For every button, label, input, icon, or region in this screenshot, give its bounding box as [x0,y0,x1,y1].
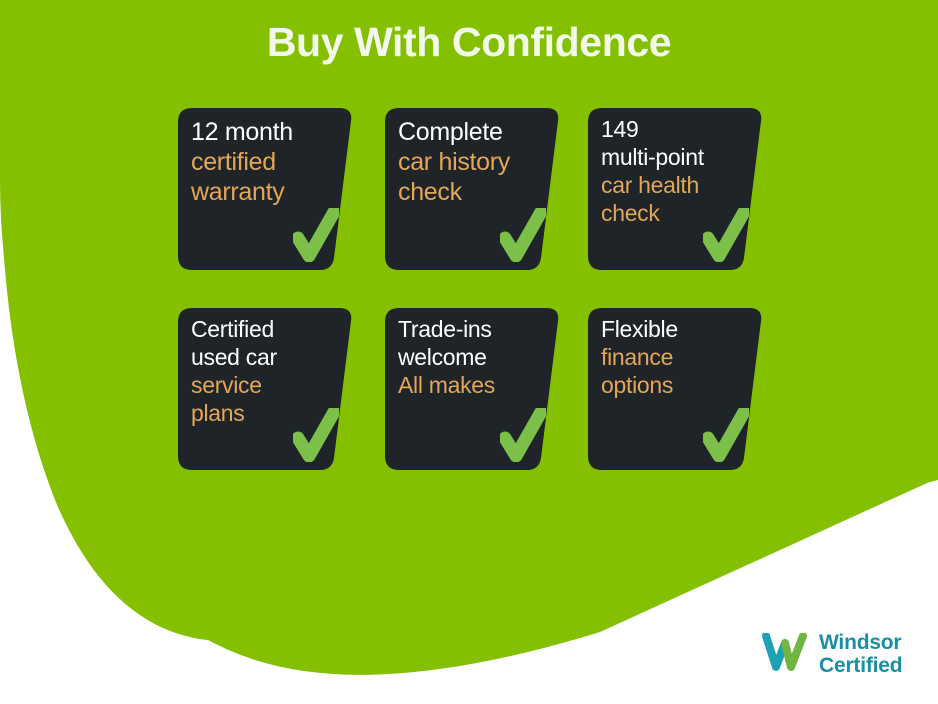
windsor-w-icon [762,633,810,675]
feature-card[interactable]: Certified used car service plans [178,308,353,470]
card-line-white: Certified [191,315,341,343]
feature-card[interactable]: Flexible finance options [588,308,763,470]
feature-card[interactable]: 149 multi-point car health check [588,108,763,270]
card-line-orange: finance [601,343,751,371]
card-text-block: Flexible finance options [601,315,751,399]
card-line-orange: car history [398,147,548,177]
card-line-white: Trade-ins [398,315,548,343]
card-line-white: multi-point [601,143,751,171]
check-icon [293,208,339,262]
card-line-orange: car health [601,171,751,199]
card-line-orange: certified [191,147,341,177]
card-line-orange: service [191,371,341,399]
feature-card[interactable]: 12 month certified warranty [178,108,353,270]
card-text-block: Trade-ins welcome All makes [398,315,548,399]
check-icon [703,408,749,462]
promo-banner: Buy With Confidence 12 month certified w… [0,0,938,704]
card-text-block: 12 month certified warranty [191,117,341,207]
feature-card-row: 12 month certified warranty Com [178,108,758,270]
check-icon [703,208,749,262]
feature-card-row: Certified used car service plans [178,308,758,470]
feature-card[interactable]: Complete car history check [385,108,560,270]
card-text-block: Complete car history check [398,117,548,207]
card-line-white: Complete [398,117,548,147]
page-title: Buy With Confidence [0,16,938,68]
card-line-white: welcome [398,343,548,371]
brand-logo: Windsor Certified [762,626,932,682]
card-line-orange: check [398,177,548,207]
feature-card-grid: 12 month certified warranty Com [178,108,758,508]
card-line-orange: options [601,371,751,399]
card-line-white: 149 [601,115,751,143]
logo-line-2: Certified [819,654,902,677]
card-line-white: Flexible [601,315,751,343]
card-line-white: 12 month [191,117,341,147]
card-line-white: used car [191,343,341,371]
check-icon [293,408,339,462]
card-line-orange: warranty [191,177,341,207]
logo-line-1: Windsor [819,631,902,654]
check-icon [500,408,546,462]
card-line-orange: All makes [398,371,548,399]
check-icon [500,208,546,262]
logo-wordmark: Windsor Certified [819,631,902,677]
feature-card[interactable]: Trade-ins welcome All makes [385,308,560,470]
